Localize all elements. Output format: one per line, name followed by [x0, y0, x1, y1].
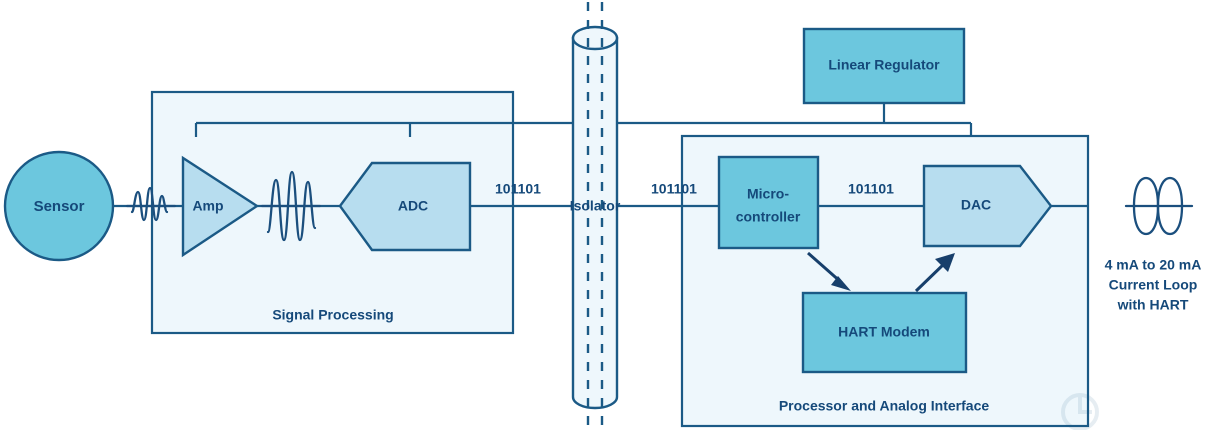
output-label-line1: 4 mA to 20 mA: [1105, 257, 1202, 273]
dac-label: DAC: [961, 197, 991, 213]
signal-processing-panel-label: Signal Processing: [272, 307, 393, 323]
isolator-label: Isolator: [570, 198, 621, 214]
bus-label-isolator-to-mcu: 101101: [651, 181, 697, 197]
bus-label-mcu-to-dac: 101101: [848, 181, 894, 197]
microcontroller-block[interactable]: [719, 157, 818, 248]
block-diagram: Sensor Amp ADC 101101 Isolator 101101: [0, 0, 1207, 430]
linear-regulator-label: Linear Regulator: [828, 57, 940, 73]
isolator-block[interactable]: [573, 27, 617, 408]
hart-modem-label: HART Modem: [838, 324, 930, 340]
output-label-line3: with HART: [1117, 297, 1189, 313]
microcontroller-label-line1: Micro-: [747, 186, 789, 202]
microcontroller-label-line2: controller: [736, 209, 801, 225]
amp-label: Amp: [192, 198, 223, 214]
bus-label-adc-to-isolator: 101101: [495, 181, 541, 197]
output-label-line2: Current Loop: [1109, 277, 1198, 293]
sensor-label: Sensor: [34, 198, 85, 215]
processor-analog-interface-panel-label: Processor and Analog Interface: [779, 398, 990, 414]
output-sine-waveform-icon: [1126, 178, 1192, 234]
adc-label: ADC: [398, 198, 428, 214]
diagram-canvas: Sensor Amp ADC 101101 Isolator 101101: [0, 0, 1207, 430]
